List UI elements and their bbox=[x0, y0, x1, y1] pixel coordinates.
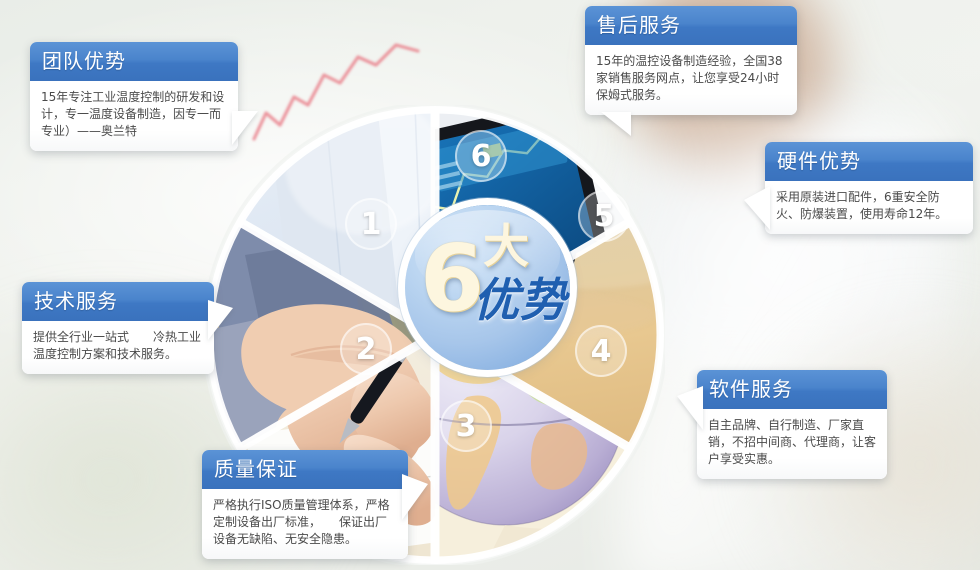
callout-body-after-sales: 15年的温控设备制造经验，全国38家销售服务网点，让您享受24小时保姆式服务。 bbox=[585, 45, 797, 115]
callout-tail-software bbox=[677, 386, 703, 430]
callout-tail-after-sales bbox=[601, 112, 631, 136]
callout-body-software: 自主品牌、自行制造、厂家直销，不招中间商、代理商，让客户享受实惠。 bbox=[697, 409, 887, 479]
segment-number-4[interactable]: 4 bbox=[575, 325, 627, 377]
segment-number-1[interactable]: 1 bbox=[345, 198, 397, 250]
callout-title-hardware: 硬件优势 bbox=[765, 142, 973, 181]
hub-char-da: 大 bbox=[483, 223, 529, 269]
callout-title-software: 软件服务 bbox=[697, 370, 887, 409]
center-hub: 6 大 优势 bbox=[405, 205, 570, 370]
segment-number-2[interactable]: 2 bbox=[340, 323, 392, 375]
callout-tail-team bbox=[232, 111, 258, 145]
callout-technical-service[interactable]: 技术服务 提供全行业一站式 冷热工业温度控制方案和技术服务。 bbox=[22, 282, 214, 374]
callout-hardware-advantage[interactable]: 硬件优势 采用原装进口配件，6重安全防火、防爆装置，使用寿命12年。 bbox=[765, 142, 973, 234]
callout-body-tech: 提供全行业一站式 冷热工业温度控制方案和技术服务。 bbox=[22, 321, 214, 374]
callout-software-service[interactable]: 软件服务 自主品牌、自行制造、厂家直销，不招中间商、代理商，让客户享受实惠。 bbox=[697, 370, 887, 479]
callout-title-tech: 技术服务 bbox=[22, 282, 214, 321]
callout-title-quality: 质量保证 bbox=[202, 450, 408, 489]
callout-title-team: 团队优势 bbox=[30, 42, 238, 81]
callout-after-sales[interactable]: 售后服务 15年的温控设备制造经验，全国38家销售服务网点，让您享受24小时保姆… bbox=[585, 6, 797, 115]
callout-team-advantage[interactable]: 团队优势 15年专注工业温度控制的研发和设计，专一温度设备制造，因专一而专业）—… bbox=[30, 42, 238, 151]
callout-body-quality: 严格执行ISO质量管理体系，严格定制设备出厂标准， 保证出厂设备无缺陷、无安全隐… bbox=[202, 489, 408, 559]
callout-tail-tech bbox=[208, 300, 233, 340]
segment-number-3[interactable]: 3 bbox=[440, 400, 492, 452]
callout-body-hardware: 采用原装进口配件，6重安全防火、防爆装置，使用寿命12年。 bbox=[765, 181, 973, 234]
callout-body-team: 15年专注工业温度控制的研发和设计，专一温度设备制造，因专一而专业）——奥兰特 bbox=[30, 81, 238, 151]
center-hub-inner: 6 大 优势 bbox=[405, 205, 570, 370]
infographic-canvas: 1 2 3 4 5 6 6 大 优势 团队优势 15年专注工业温度控制的研发和设… bbox=[0, 0, 980, 570]
segment-number-5[interactable]: 5 bbox=[578, 190, 630, 242]
callout-quality-assurance[interactable]: 质量保证 严格执行ISO质量管理体系，严格定制设备出厂标准， 保证出厂设备无缺陷… bbox=[202, 450, 408, 559]
segment-number-6[interactable]: 6 bbox=[455, 130, 507, 182]
hub-text-youshi: 优势 bbox=[473, 275, 567, 325]
callout-tail-hardware bbox=[744, 186, 770, 230]
callout-title-after-sales: 售后服务 bbox=[585, 6, 797, 45]
callout-tail-quality bbox=[402, 474, 428, 520]
